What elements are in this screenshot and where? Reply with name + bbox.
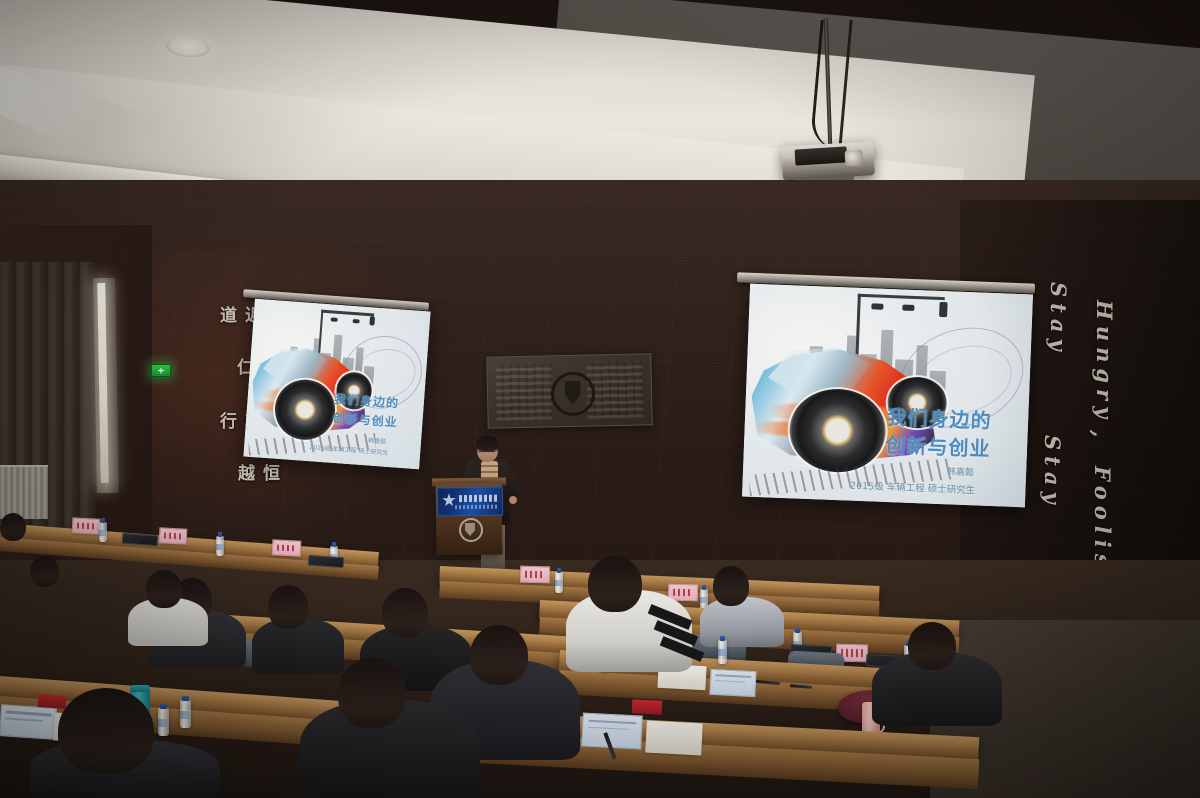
speaker-hair bbox=[476, 436, 499, 451]
red-booklet bbox=[38, 694, 67, 709]
slide-traffic-light-box bbox=[331, 317, 338, 322]
right-projection-screen: 我们身边的 创新与创业 韩嘉懿 2015级 车辆工程 硕士研究生 bbox=[742, 284, 1033, 508]
wall-motto-right-stay2: Stay bbox=[1040, 435, 1065, 517]
plaque-inscription-right bbox=[586, 361, 643, 418]
water-bottle bbox=[718, 640, 727, 664]
water-bottle bbox=[555, 572, 563, 593]
slide-title-line1: 我们身边的 bbox=[886, 406, 992, 432]
audience-shoulders bbox=[700, 597, 784, 647]
speaker-glasses-icon bbox=[479, 451, 495, 456]
printed-form bbox=[581, 712, 643, 749]
audience-head bbox=[0, 513, 26, 541]
banner-title-text bbox=[459, 495, 499, 503]
left-projection-screen: 我们身边的 创新与创业 韩嘉懿 2015级 车辆工程 硕士研究生 bbox=[243, 299, 430, 469]
name-card bbox=[72, 517, 101, 534]
audience-head bbox=[58, 688, 154, 774]
water-bottle bbox=[99, 522, 107, 542]
audience-head bbox=[713, 566, 749, 606]
slide-traffic-light-box bbox=[902, 304, 914, 310]
name-card bbox=[159, 527, 188, 544]
wall-motto-right-hungry: Hungry bbox=[1092, 300, 1117, 430]
slide-traffic-light-box bbox=[871, 303, 883, 309]
audience-head bbox=[908, 622, 956, 670]
slide-presenter-name: 韩嘉懿 bbox=[947, 464, 974, 478]
plaque-inscription-left bbox=[495, 363, 552, 420]
audience-head bbox=[588, 556, 642, 612]
wall-motto-right-stay1: Stay bbox=[1046, 282, 1071, 364]
audience-head bbox=[470, 625, 528, 685]
audience-head bbox=[338, 658, 406, 728]
note-paper bbox=[645, 721, 703, 756]
wall-motto-left-4: 恒越 bbox=[232, 464, 282, 520]
water-bottle bbox=[216, 536, 224, 556]
wall-plaque bbox=[486, 353, 652, 428]
wall-motto-right-comma: , bbox=[1088, 430, 1113, 452]
name-card bbox=[272, 539, 302, 556]
water-bottle bbox=[180, 700, 191, 728]
banner-subtitle-text bbox=[455, 505, 497, 510]
radiator bbox=[0, 465, 48, 519]
exit-sign-icon bbox=[151, 364, 171, 377]
audience-head bbox=[382, 588, 428, 638]
projector-vent bbox=[795, 146, 848, 165]
name-card bbox=[520, 566, 550, 584]
audience-head bbox=[146, 570, 182, 608]
printed-form bbox=[709, 669, 756, 697]
slide-presenter-name: 韩嘉懿 bbox=[368, 435, 387, 445]
slide-traffic-light-box bbox=[352, 319, 359, 324]
banner-star-icon bbox=[442, 493, 456, 507]
right-screen-surface: 我们身边的 创新与创业 韩嘉懿 2015级 车辆工程 硕士研究生 bbox=[742, 284, 1033, 508]
projector-lens-icon bbox=[845, 149, 864, 166]
audience-head bbox=[268, 585, 308, 629]
slide-title-line2: 创新与创业 bbox=[885, 434, 991, 460]
university-crest-icon bbox=[550, 371, 595, 416]
podium-banner bbox=[437, 487, 503, 517]
slide-traffic-signal bbox=[939, 302, 948, 317]
printed-form bbox=[0, 704, 57, 740]
left-screen-surface: 我们身边的 创新与创业 韩嘉懿 2015级 车辆工程 硕士研究生 bbox=[243, 299, 430, 469]
lecture-hall-photo: 近道 里仁 敦行 恒越 Stay Hungry , Stay Foolish bbox=[0, 0, 1200, 798]
red-booklet bbox=[632, 699, 663, 715]
water-bottle bbox=[158, 708, 169, 736]
audience-head bbox=[30, 556, 59, 587]
speaker-right-hand bbox=[509, 496, 517, 504]
podium-university-seal-icon bbox=[459, 518, 483, 542]
